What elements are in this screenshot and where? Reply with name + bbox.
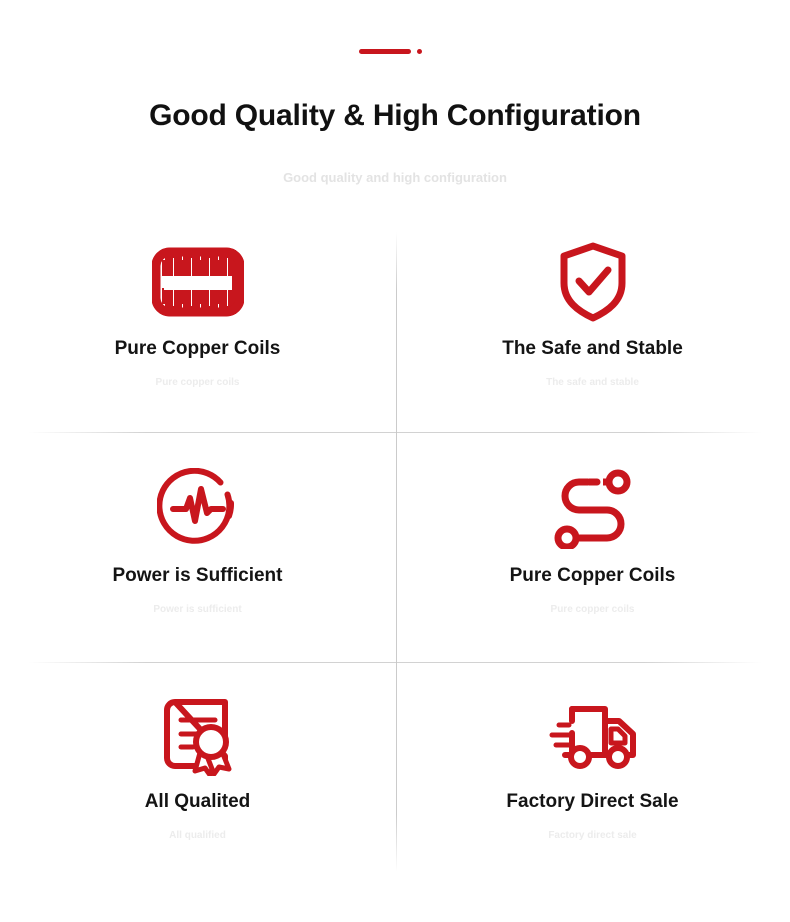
- grid-divider-horizontal-1: [28, 432, 762, 433]
- delivery-truck-icon: [547, 687, 639, 783]
- feature-title: Power is Sufficient: [113, 563, 283, 589]
- feature-subtitle: Factory direct sale: [548, 829, 636, 843]
- feature-card-factory-direct-sale[interactable]: Factory Direct Sale Factory direct sale: [395, 675, 790, 902]
- accent-dash-dot-icon: [359, 49, 431, 55]
- accent-dot: [417, 49, 422, 54]
- feature-subtitle: Pure copper coils: [156, 376, 240, 390]
- feature-card-pure-copper-coils[interactable]: Pure Copper Coils Pure copper coils: [0, 222, 395, 449]
- page-title: Good Quality & High Configuration: [0, 96, 790, 136]
- grid-divider-horizontal-2: [28, 662, 762, 663]
- feature-title: Pure Copper Coils: [115, 336, 281, 362]
- feature-title: Factory Direct Sale: [506, 789, 678, 815]
- page-subtitle: Good quality and high configuration: [280, 168, 510, 187]
- copper-coil-icon: [152, 234, 244, 330]
- feature-card-the-safe-and-stable[interactable]: The Safe and Stable The safe and stable: [395, 222, 790, 449]
- certificate-award-icon: [159, 687, 237, 783]
- feature-subtitle: Pure copper coils: [551, 603, 635, 617]
- accent-bar: [359, 49, 411, 54]
- feature-title: The Safe and Stable: [502, 336, 683, 362]
- shield-check-icon: [558, 234, 628, 330]
- feature-card-power-is-sufficient[interactable]: Power is Sufficient Power is sufficient: [0, 449, 395, 676]
- feature-subtitle: All qualified: [169, 829, 226, 843]
- feature-title: Pure Copper Coils: [510, 563, 676, 589]
- feature-card-pure-copper-coils-route[interactable]: Pure Copper Coils Pure copper coils: [395, 449, 790, 676]
- feature-card-all-qualited[interactable]: All Qualited All qualified: [0, 675, 395, 902]
- feature-highlights-page: Good Quality & High Configuration Good q…: [0, 0, 790, 922]
- power-pulse-icon: [157, 461, 239, 557]
- route-path-icon: [551, 461, 635, 557]
- feature-subtitle: The safe and stable: [546, 376, 639, 390]
- feature-subtitle: Power is sufficient: [153, 603, 241, 617]
- grid-divider-vertical: [396, 232, 397, 872]
- feature-title: All Qualited: [145, 789, 251, 815]
- feature-grid: Pure Copper Coils Pure copper coils The …: [0, 222, 790, 902]
